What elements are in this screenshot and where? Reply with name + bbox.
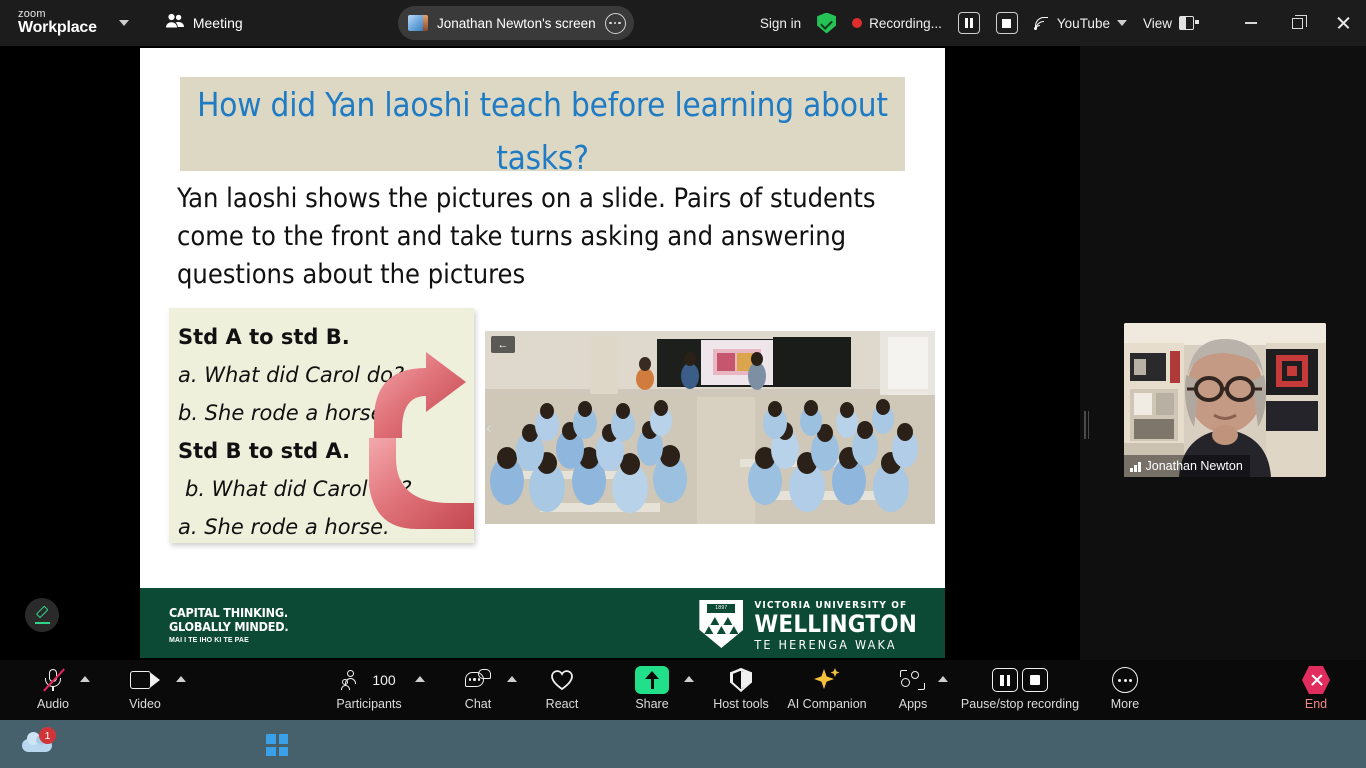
drag-handle-icon[interactable] <box>1084 411 1089 439</box>
chat-options-caret-icon[interactable] <box>507 676 517 682</box>
vuw-crest-icon: 1897 <box>699 600 743 648</box>
toolbar-chat-button[interactable]: Chat <box>441 666 515 711</box>
tagline-line-1: CAPITAL THINKING. <box>169 606 288 620</box>
restore-icon <box>1292 18 1303 29</box>
end-call-icon <box>1302 666 1330 694</box>
annotate-button[interactable] <box>25 598 59 632</box>
slide-body-text: Yan laoshi shows the pictures on a slide… <box>177 180 927 294</box>
slide-title: How did Yan laoshi teach before learning… <box>180 78 905 184</box>
toolbar-ai-companion-button[interactable]: AI Companion <box>770 666 884 711</box>
toolbar-video-button[interactable]: Video <box>108 666 182 711</box>
pause-stop-recording-icon <box>992 668 1048 692</box>
window-controls <box>1228 0 1366 46</box>
slide-footer: CAPITAL THINKING. GLOBALLY MINDED. MAI I… <box>140 588 945 658</box>
weather-badge: 1 <box>39 727 56 744</box>
close-button[interactable] <box>1320 0 1366 46</box>
crest-year: 1897 <box>707 604 735 613</box>
back-arrow-icon[interactable]: ← <box>491 336 515 353</box>
chevron-left-icon[interactable]: ‹ <box>486 418 492 438</box>
uni-line-3: TE HERENGA WAKA <box>754 637 917 652</box>
chevron-down-icon <box>119 20 129 26</box>
dialogue-line: a. What did Carol do? <box>178 356 474 394</box>
uni-line-2: WELLINGTON <box>754 611 917 637</box>
topbar-status-cluster: Sign in Recording... YouTube View <box>748 5 1206 41</box>
toolbar-more-button[interactable]: More <box>1088 666 1162 711</box>
stop-recording-icon[interactable] <box>1022 668 1048 692</box>
green-shield-check-icon[interactable] <box>817 13 836 34</box>
workspace-switch-button[interactable] <box>119 20 129 26</box>
zoom-meeting-window: zoom Workplace Meeting Jonathan Newton's… <box>0 0 1366 768</box>
restore-button[interactable] <box>1274 0 1320 46</box>
toolbar-apps-label: Apps <box>899 697 928 711</box>
view-label: View <box>1143 16 1172 31</box>
recording-label: Recording... <box>869 16 942 31</box>
minimize-button[interactable] <box>1228 0 1274 46</box>
screen-thumbnail-icon <box>408 15 428 31</box>
shield-host-icon <box>730 668 752 692</box>
youtube-livestream-button[interactable]: YouTube <box>1034 16 1127 31</box>
vuw-wordmark: VICTORIA UNIVERSITY OF WELLINGTON TE HER… <box>754 600 917 652</box>
share-options-caret-icon[interactable] <box>684 676 694 682</box>
layout-view-icon <box>1179 16 1194 30</box>
participant-name: Jonathan Newton <box>1146 459 1243 473</box>
zoom-meeting-toolbar: Audio Video 100 Participants Chat <box>0 660 1366 720</box>
participants-count: 100 <box>372 672 395 688</box>
dialogue-box: Std A to std B. a. What did Carol do? b.… <box>169 308 474 543</box>
vuw-tagline: CAPITAL THINKING. GLOBALLY MINDED. MAI I… <box>169 606 288 644</box>
more-dots-icon <box>1112 667 1138 693</box>
weather-widget[interactable]: 1 <box>22 729 52 759</box>
pause-icon[interactable] <box>958 12 980 34</box>
recording-status: Recording... <box>852 16 942 31</box>
presentation-slide: How did Yan laoshi teach before learning… <box>140 48 945 658</box>
dialogue-line: a. She rode a horse. <box>178 508 474 543</box>
heart-icon <box>550 669 574 691</box>
toolbar-participants-button[interactable]: 100 Participants <box>331 666 407 711</box>
windows-start-icon[interactable] <box>266 734 288 756</box>
tagline-line-3: MAI I TE IHO KI TE PAE <box>169 637 288 644</box>
record-dot-icon <box>852 18 862 28</box>
participants-options-caret-icon[interactable] <box>415 676 425 682</box>
toolbar-participants-label: Participants <box>336 697 401 711</box>
tagline-line-2: GLOBALLY MINDED. <box>169 620 288 634</box>
classroom-photo-image <box>485 331 935 524</box>
windows-taskbar: 1 Search <box>0 720 1366 768</box>
toolbar-video-label: Video <box>129 697 161 711</box>
dialogue-line: Std A to std B. <box>178 318 474 356</box>
zoom-workplace-logo: zoom Workplace <box>18 9 97 37</box>
zoom-logo-big-text: Workplace <box>18 20 97 37</box>
shared-screen-label: Jonathan Newton's screen <box>437 16 596 31</box>
more-options-icon[interactable] <box>605 13 626 34</box>
toolbar-react-button[interactable]: React <box>525 666 599 711</box>
apps-icon <box>900 669 926 691</box>
toolbar-audio-label: Audio <box>37 697 69 711</box>
toolbar-chat-label: Chat <box>465 697 491 711</box>
minimize-icon <box>1245 22 1257 24</box>
stop-icon[interactable] <box>996 12 1018 34</box>
toolbar-more-label: More <box>1111 697 1139 711</box>
participant-video-image <box>1124 323 1326 477</box>
toolbar-share-button[interactable]: Share <box>615 666 689 711</box>
share-screen-icon <box>635 666 669 694</box>
pause-recording-icon[interactable] <box>992 668 1018 692</box>
signal-bars-icon <box>1130 461 1141 472</box>
chevron-down-icon <box>1117 20 1127 26</box>
dialogue-line: b. What did Carol do? <box>178 470 474 508</box>
toolbar-host-tools-label: Host tools <box>713 697 769 711</box>
tab-meeting-label: Meeting <box>193 15 243 31</box>
video-options-caret-icon[interactable] <box>176 676 186 682</box>
toolbar-pause-stop-recording-label: Pause/stop recording <box>961 697 1079 711</box>
shared-screen-chip[interactable]: Jonathan Newton's screen <box>398 6 634 40</box>
audio-options-caret-icon[interactable] <box>80 676 90 682</box>
view-button[interactable]: View <box>1143 16 1194 31</box>
tab-meeting[interactable]: Meeting <box>157 9 251 38</box>
broadcast-icon <box>1034 16 1050 30</box>
participant-video-tile[interactable]: Jonathan Newton <box>1124 323 1326 477</box>
vuw-logo: 1897 VICTORIA UNIVERSITY OF WELLINGTON T… <box>699 600 917 652</box>
toolbar-end-button[interactable]: End <box>1282 666 1350 711</box>
toolbar-host-tools-button[interactable]: Host tools <box>704 666 778 711</box>
toolbar-pause-stop-recording-button[interactable]: Pause/stop recording <box>955 666 1085 711</box>
toolbar-react-label: React <box>546 697 579 711</box>
toolbar-end-label: End <box>1305 697 1327 711</box>
pencil-annotate-icon <box>34 607 51 624</box>
sign-in-button[interactable]: Sign in <box>760 16 801 31</box>
apps-options-caret-icon[interactable] <box>938 676 948 682</box>
classroom-photo: ← ‹ <box>485 331 935 524</box>
microphone-muted-icon <box>40 667 66 693</box>
sparkle-icon <box>813 667 841 693</box>
toolbar-apps-button[interactable]: Apps <box>876 666 950 711</box>
close-icon <box>1336 16 1350 30</box>
toolbar-audio-button[interactable]: Audio <box>16 666 90 711</box>
youtube-label: YouTube <box>1057 16 1110 31</box>
toolbar-share-label: Share <box>635 697 668 711</box>
dialogue-line: b. She rode a horse. <box>178 394 474 432</box>
participants-icon <box>342 670 366 690</box>
meeting-stage: How did Yan laoshi teach before learning… <box>0 46 1366 660</box>
participant-name-badge: Jonathan Newton <box>1124 455 1250 477</box>
people-icon <box>165 13 185 34</box>
shared-screen-area[interactable]: How did Yan laoshi teach before learning… <box>0 46 1080 660</box>
zoom-title-bar: zoom Workplace Meeting Jonathan Newton's… <box>0 0 1366 46</box>
camera-icon <box>130 671 160 689</box>
chat-bubble-icon <box>465 669 491 691</box>
toolbar-ai-companion-label: AI Companion <box>787 697 866 711</box>
dialogue-line: Std B to std A. <box>178 432 474 470</box>
